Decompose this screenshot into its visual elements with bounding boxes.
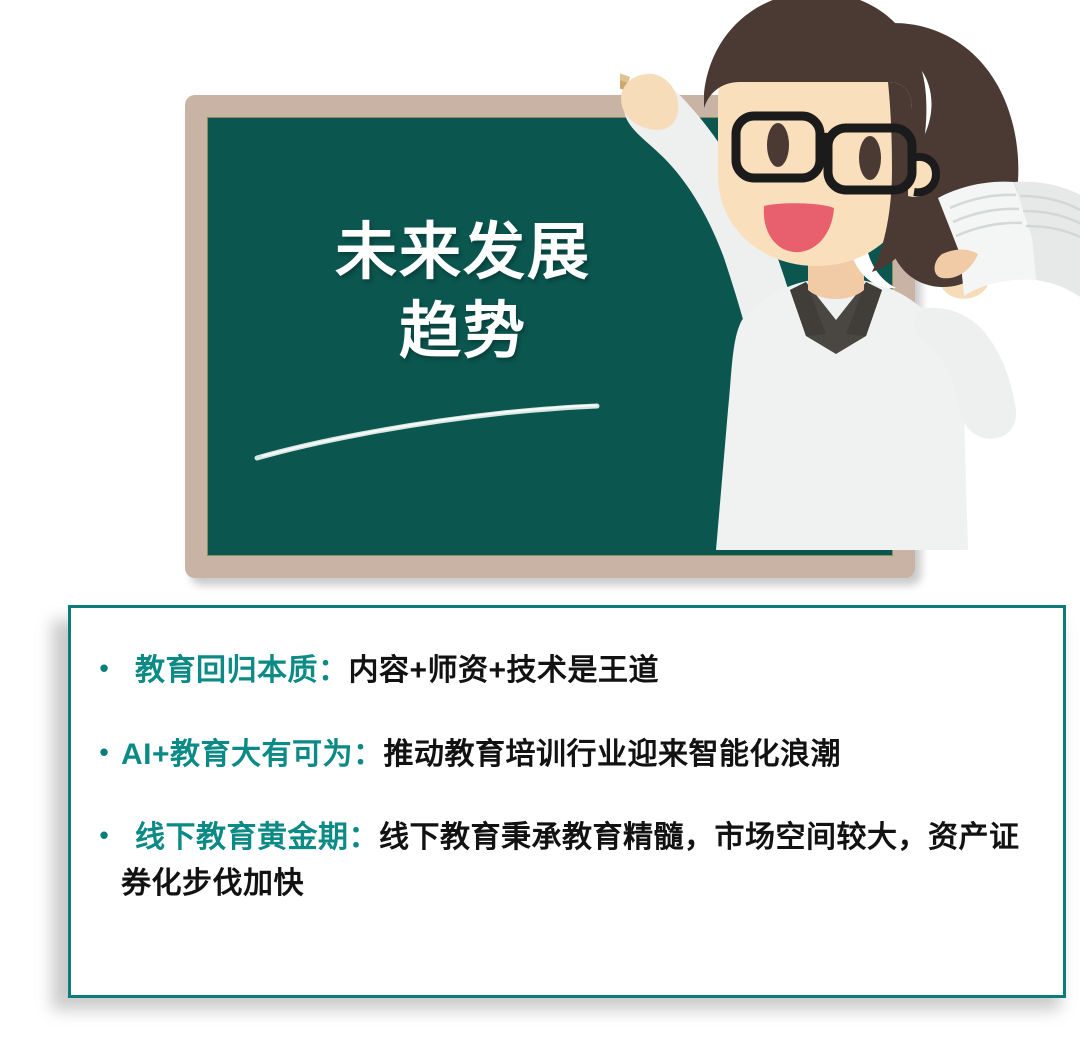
bullet-lead: 线下教育黄金期： [121,821,379,854]
bullet-body: 推动教育培训行业迎来智能化浪潮 [384,738,842,771]
pointer-stick-icon [620,40,630,90]
chalk-stroke-icon [253,398,603,468]
bullet-marker: • [87,648,121,688]
blackboard: 未来发展 趋势 [185,95,915,578]
bullet-body: 内容+师资+技术是王道 [349,654,660,687]
bullet-marker: • [87,732,121,772]
bullet-marker: • [87,815,121,855]
slide-canvas: 未来发展 趋势 [0,0,1080,1055]
blackboard-title: 未来发展 趋势 [253,213,673,372]
bullet-content: AI+教育大有可为：推动教育培训行业迎来智能化浪潮 [121,732,1045,778]
bullet-list: • 教育回归本质：内容+师资+技术是王道 • AI+教育大有可为：推动教育培训行… [71,608,1063,995]
list-item[interactable]: • 教育回归本质：内容+师资+技术是王道 [87,648,1045,694]
bullet-lead: AI+教育大有可为： [121,738,384,771]
list-item[interactable]: • 线下教育黄金期：线下教育秉承教育精髓，市场空间较大，资产证券化步伐加快 [87,815,1045,906]
bullet-lead: 教育回归本质： [121,654,349,687]
list-item[interactable]: • AI+教育大有可为：推动教育培训行业迎来智能化浪潮 [87,732,1045,778]
blackboard-surface: 未来发展 趋势 [208,118,892,555]
right-arm [914,247,1016,439]
open-book-icon [935,182,1080,302]
key-points-box: • 教育回归本质：内容+师资+技术是王道 • AI+教育大有可为：推动教育培训行… [68,605,1066,998]
bullet-content: 线下教育黄金期：线下教育秉承教育精髓，市场空间较大，资产证券化步伐加快 [121,815,1045,906]
bullet-content: 教育回归本质：内容+师资+技术是王道 [121,648,1045,694]
